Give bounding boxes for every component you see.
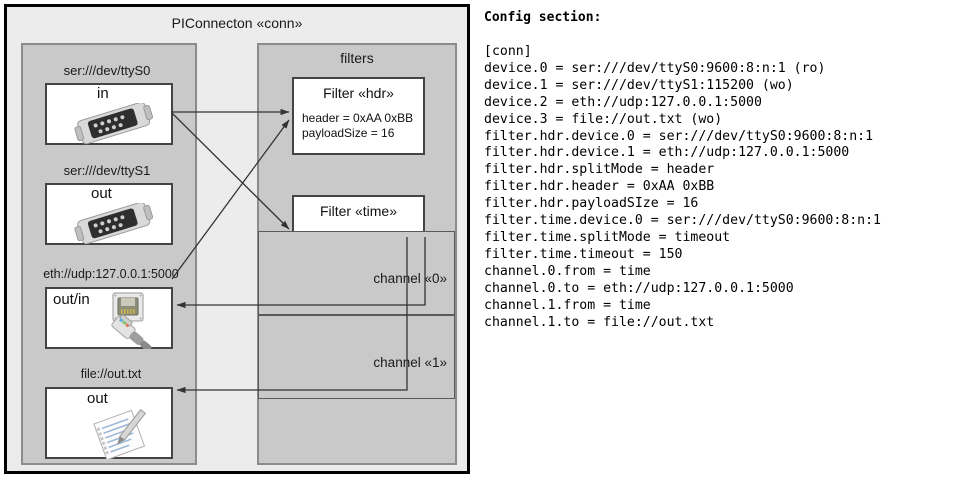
device-label-ttyS1: ser:///dev/ttyS1 [42,163,172,178]
filter-title: Filter «hdr» [294,85,423,101]
device-direction-label: out/in [53,291,90,308]
channel-label-0: channel «0» [373,271,447,286]
config-heading: Config section: [484,10,601,25]
device-box-ttyS0[interactable]: in [45,83,173,145]
filters-panel: filters Filter «hdr» header = 0xAA 0xBB … [257,43,457,465]
device-direction-label: out [91,185,112,202]
device-label-ttyS0: ser:///dev/ttyS0 [42,63,172,78]
config-lines[interactable]: [conn] device.0 = ser:///dev/ttyS0:9600:… [484,44,881,331]
device-label-eth: eth://udp:127.0.0.1:5000 [23,267,199,281]
filter-title: Filter «time» [294,203,423,219]
diagram-title: PIConnecton «conn» [7,15,467,31]
filter-box-hdr[interactable]: Filter «hdr» header = 0xAA 0xBB payloadS… [292,77,425,155]
filter-prop: header = 0xAA 0xBB [302,111,413,126]
device-label-file: file://out.txt [23,367,199,381]
ethernet-jack-icon [105,291,171,354]
device-direction-label: in [97,85,109,102]
filter-props-hdr: header = 0xAA 0xBB payloadSize = 16 [302,111,413,141]
devices-panel: ser:///dev/ttyS0 in [21,43,197,465]
channel-label-1: channel «1» [373,355,447,370]
device-box-eth[interactable]: out/in [45,287,173,349]
serial-connector-icon [71,203,157,250]
device-direction-label: out [87,390,108,407]
filter-prop: payloadSize = 16 [302,126,413,141]
screenshot-root: PIConnecton «conn» ser:///dev/ttyS0 in [0,0,964,484]
device-box-file[interactable]: out [45,387,173,459]
config-section: Config section: [conn] device.0 = ser://… [482,4,960,474]
filters-panel-title: filters [259,50,455,66]
diagram-container: PIConnecton «conn» ser:///dev/ttyS0 in [4,4,470,474]
text-file-icon [89,409,155,464]
device-box-ttyS1[interactable]: out [45,183,173,245]
serial-connector-icon [71,103,157,150]
